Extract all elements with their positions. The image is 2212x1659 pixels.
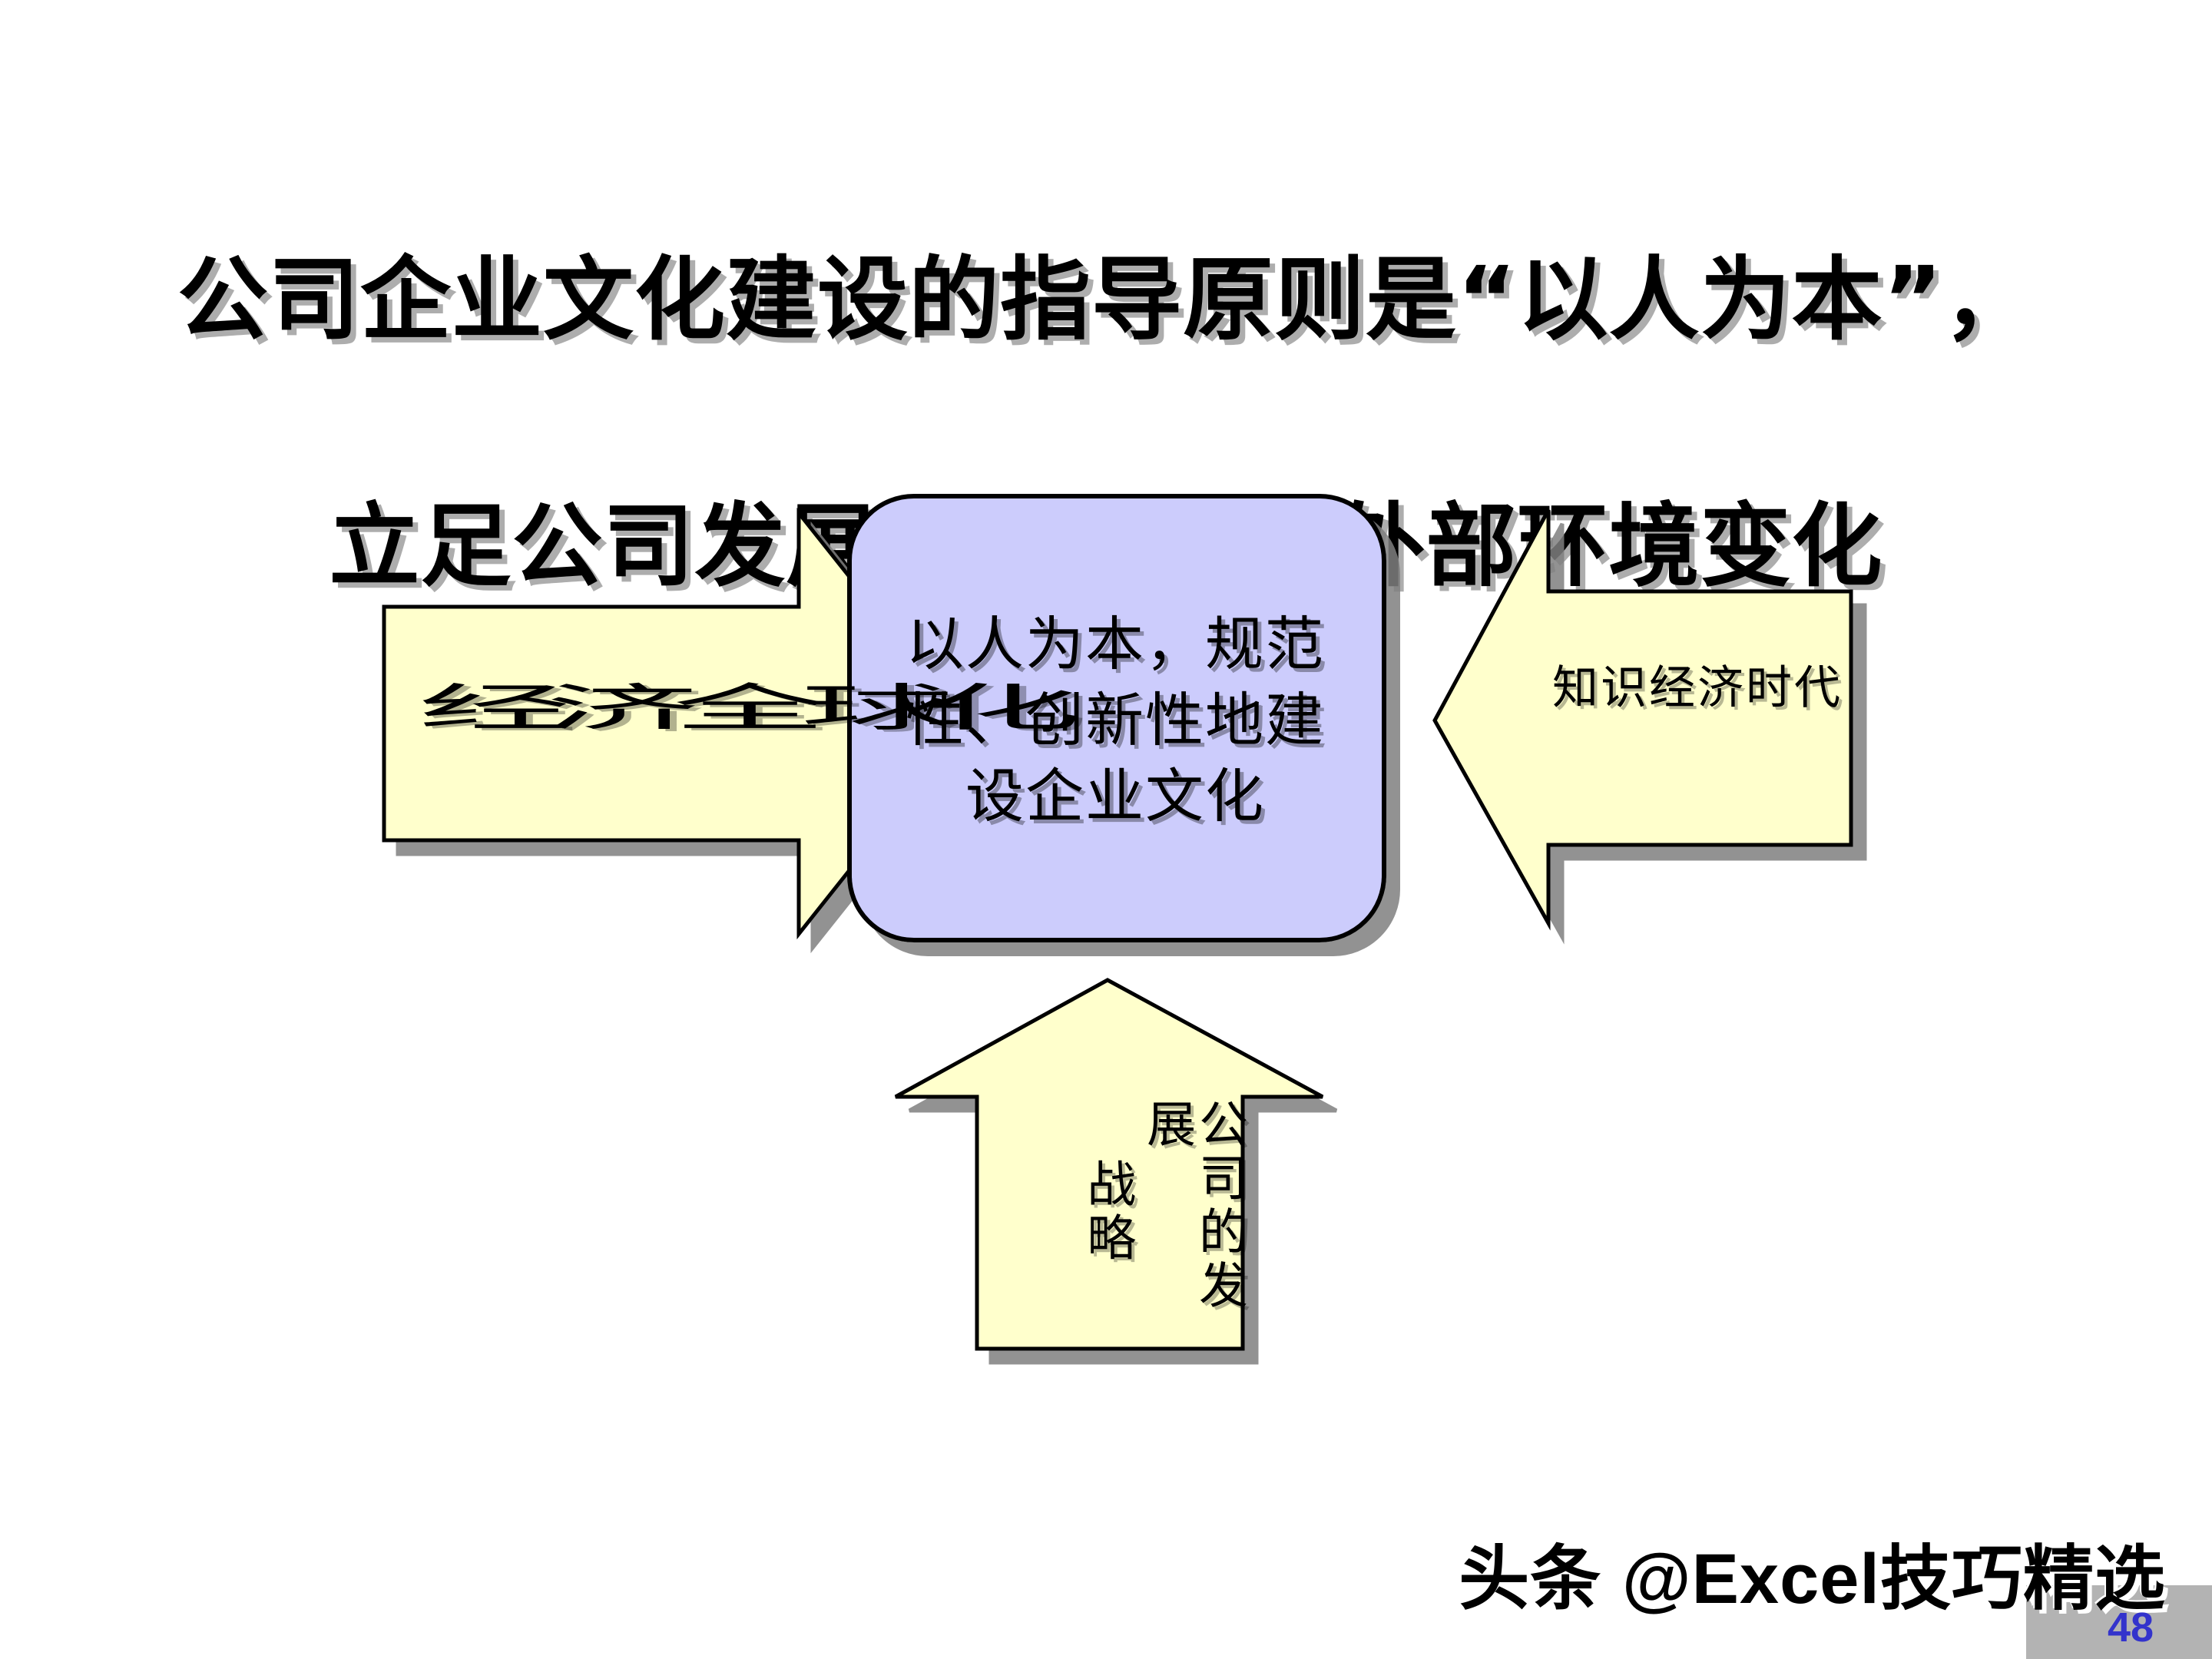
watermark-text: 头条 @Excel技巧精选 [1260,1544,2166,1614]
arrow-bottom-label-column-right: 公司的发展 [1140,1098,1244,1344]
diagram-canvas: 经济全球化 以人为本，规范 性、创新性地建 设企业文化 知识经济时代 公司的发展… [0,0,2212,1659]
arrow-left-label: 经济全球化 [418,685,710,732]
slide-canvas: 公司企业文化建设的指导原则是“以人为本”， 立足公司发展战略，适应外部环境变化 [0,0,2212,1659]
center-box-shape[interactable] [849,496,1384,940]
arrow-left-label-wrap: 经济全球化 [418,654,710,762]
diagram-shapes [0,0,2212,1659]
arrow-right-shape[interactable] [1435,510,1851,923]
page-number: 48 [2108,1607,2154,1648]
arrow-bottom-label-column-left: 战略 [1081,1158,1133,1266]
arrow-bottom-label: 公司的发展 战略 [998,1098,1244,1344]
